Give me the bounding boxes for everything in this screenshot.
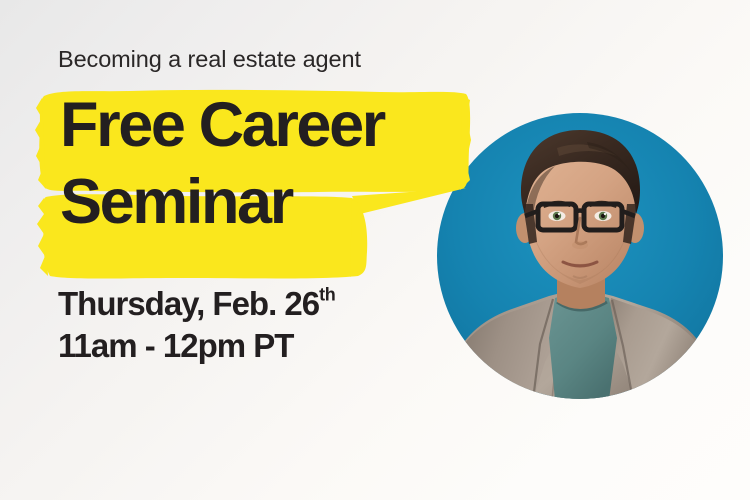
event-date: Thursday, Feb. 26th — [58, 283, 468, 325]
event-date-text: Thursday, Feb. 26 — [58, 285, 319, 322]
event-time: 11am - 12pm PT — [58, 325, 468, 367]
seminar-promo-poster: Becoming a real estate agent Free Career… — [0, 0, 750, 500]
event-date-ordinal-suffix: th — [319, 285, 335, 305]
headline: Free Career Seminar — [60, 95, 480, 233]
headline-line-2: Seminar — [60, 172, 480, 233]
eyebrow-text: Becoming a real estate agent — [58, 46, 361, 73]
poster-text-stack: Becoming a real estate agent Free Career… — [0, 0, 470, 500]
headline-line-1: Free Career — [60, 95, 480, 156]
event-details: Thursday, Feb. 26th 11am - 12pm PT — [58, 283, 468, 367]
